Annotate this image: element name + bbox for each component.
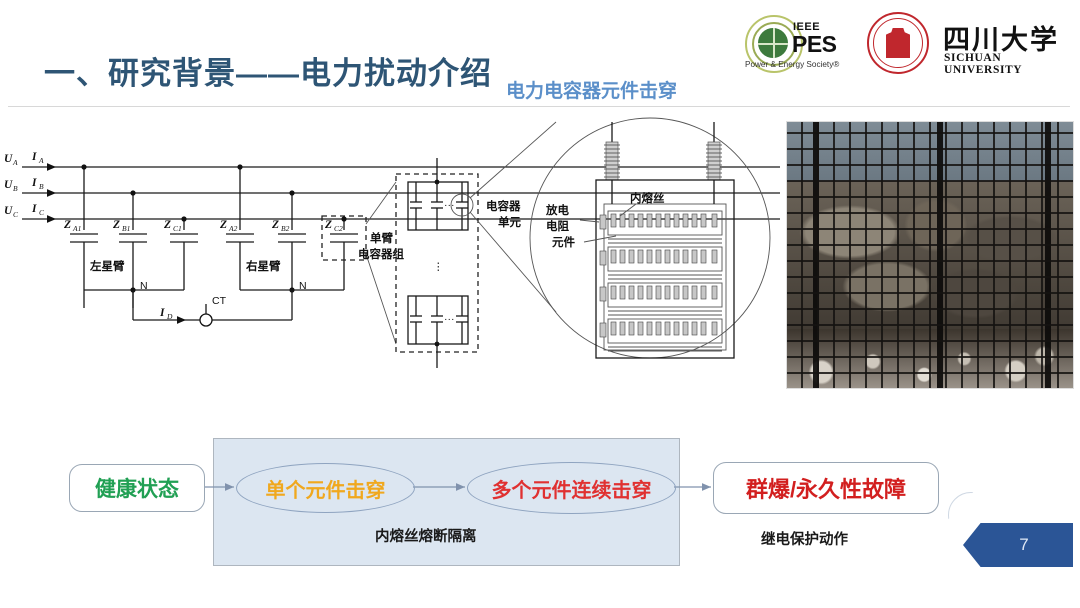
- label-zc2-sub: C2: [334, 224, 343, 233]
- label-right-arm: 右星臂: [245, 259, 281, 273]
- pes-pes-text: PES: [792, 31, 837, 58]
- label-zc2: Z: [324, 219, 332, 231]
- bank-upper-ellipsis: ···: [444, 199, 455, 211]
- pes-tagline: Power & Energy Society®: [745, 60, 839, 69]
- label-za2: Z: [219, 219, 227, 231]
- label-bank-line2: 电容器组: [358, 247, 404, 261]
- label-zb1: Z: [112, 219, 120, 231]
- label-unit-line2: 单元: [498, 215, 521, 229]
- label-zb1-sub: B1: [122, 224, 130, 233]
- bank-lower-ellipsis: ···: [444, 313, 455, 325]
- capacitor-bank-box: ··· ⋮: [396, 158, 521, 368]
- bushing-right-icon: [706, 142, 722, 180]
- discharge-resistor-icons: [600, 215, 606, 337]
- callout-bank: 单臂 电容器组: [358, 182, 404, 344]
- label-zc1: Z: [163, 219, 171, 231]
- label-za1: Z: [63, 219, 71, 231]
- label-ib: I: [31, 177, 37, 189]
- label-bank-line1: 单臂: [370, 231, 393, 245]
- element-row-3: [608, 283, 722, 315]
- label-id: I: [159, 307, 165, 319]
- bank-vertical-ellipsis: ⋮: [433, 261, 444, 273]
- label-uc: U: [4, 205, 13, 217]
- label-neutral-right: N: [299, 280, 307, 292]
- label-ub: U: [4, 179, 13, 191]
- label-internal-fuse: 内熔丝: [630, 191, 665, 205]
- label-discharge-resistor-line2: 电阻: [546, 219, 569, 233]
- label-unit-line1: 电容器: [486, 199, 521, 213]
- element-row-1: [608, 211, 722, 243]
- label-ic-sub: C: [39, 208, 45, 217]
- label-za1-sub: A1: [72, 224, 81, 233]
- label-ua-sub: A: [12, 158, 18, 167]
- flow-node-mass-failure[interactable]: 群爆/永久性故障: [713, 462, 939, 514]
- logo-bar: IEEE PES Power & Energy Society® 四川大学 SI…: [745, 6, 1079, 80]
- label-ub-sub: B: [13, 184, 18, 193]
- label-discharge-resistor-line1: 放电: [545, 203, 569, 217]
- sichuan-seal-icon: [867, 12, 929, 74]
- bank-lower-capacitors: ···: [410, 296, 468, 344]
- flow-node-single-breakdown[interactable]: 单个元件击穿: [236, 463, 415, 513]
- label-id-sub: D: [166, 312, 173, 321]
- page-subtitle: 电力电容器元件击穿: [506, 76, 677, 103]
- label-ia-sub: A: [38, 156, 44, 165]
- sichuan-seal-glyph-icon: [886, 28, 910, 58]
- label-zc1-sub: C1: [173, 224, 182, 233]
- element-row-2: [608, 247, 722, 279]
- branch-za1: Z A1: [63, 164, 98, 308]
- label-zb2-sub: B2: [281, 224, 290, 233]
- branch-zb2: Z B2: [271, 190, 306, 292]
- label-element: 元件: [552, 235, 575, 249]
- slide-root: 一、研究背景——电力扰动介绍 电力电容器元件击穿 IEEE PES Power …: [0, 0, 1080, 608]
- page-number-badge: 7: [963, 523, 1073, 567]
- label-uc-sub: C: [13, 210, 19, 219]
- bank-upper-capacitors: ···: [410, 182, 473, 230]
- capacitor-internal-detail: 内熔丝 放电 电阻 元件: [530, 118, 770, 358]
- label-ua: U: [4, 153, 13, 165]
- label-zb2: Z: [271, 219, 279, 231]
- capacitor-bank-schematic: U A U B U C I A I B I C Z A1: [0, 112, 780, 394]
- bushing-left-icon: [604, 142, 620, 180]
- phase-labels: U A U B U C I A I B I C: [4, 151, 45, 219]
- flow-node-healthy-label: 健康状态: [95, 473, 179, 503]
- photo-fence-mesh: [786, 121, 1074, 389]
- flow-node-mass-failure-label: 群爆/永久性故障: [746, 472, 906, 504]
- ieee-pes-logo-icon: IEEE PES Power & Energy Society®: [745, 12, 853, 74]
- header-divider: [8, 106, 1070, 107]
- label-za2-sub: A2: [228, 224, 238, 233]
- flow-node-healthy[interactable]: 健康状态: [69, 464, 205, 512]
- sichuan-university-name: 四川大学 SICHUAN UNIVERSITY: [943, 14, 1079, 72]
- arm-labels: 左星臂 右星臂 N N: [89, 259, 307, 292]
- sichuan-name-en: SICHUAN UNIVERSITY: [944, 52, 1079, 76]
- pes-globe-icon: [758, 28, 788, 58]
- failed-capacitor-bank-photo: [786, 121, 1074, 389]
- flow-node-multi-breakdown[interactable]: 多个元件连续击穿: [467, 462, 676, 514]
- element-row-4: [608, 319, 722, 351]
- label-neutral-left: N: [140, 280, 148, 292]
- page-title: 一、研究背景——电力扰动介绍: [44, 48, 492, 93]
- caption-relay-action: 继电保护动作: [761, 528, 848, 549]
- flow-node-multi-breakdown-label: 多个元件连续击穿: [492, 474, 652, 503]
- differential-ct-loop: CT I D: [133, 290, 292, 326]
- label-ib-sub: B: [39, 182, 44, 191]
- label-left-arm: 左星臂: [89, 259, 125, 273]
- label-ic: I: [31, 203, 37, 215]
- branch-zc2-highlighted: Z C2: [240, 216, 366, 290]
- flow-node-single-breakdown-label: 单个元件击穿: [266, 474, 386, 503]
- label-ct: CT: [212, 295, 227, 307]
- caption-fuse-isolation: 内熔丝熔断隔离: [375, 525, 477, 546]
- label-ia: I: [31, 151, 37, 163]
